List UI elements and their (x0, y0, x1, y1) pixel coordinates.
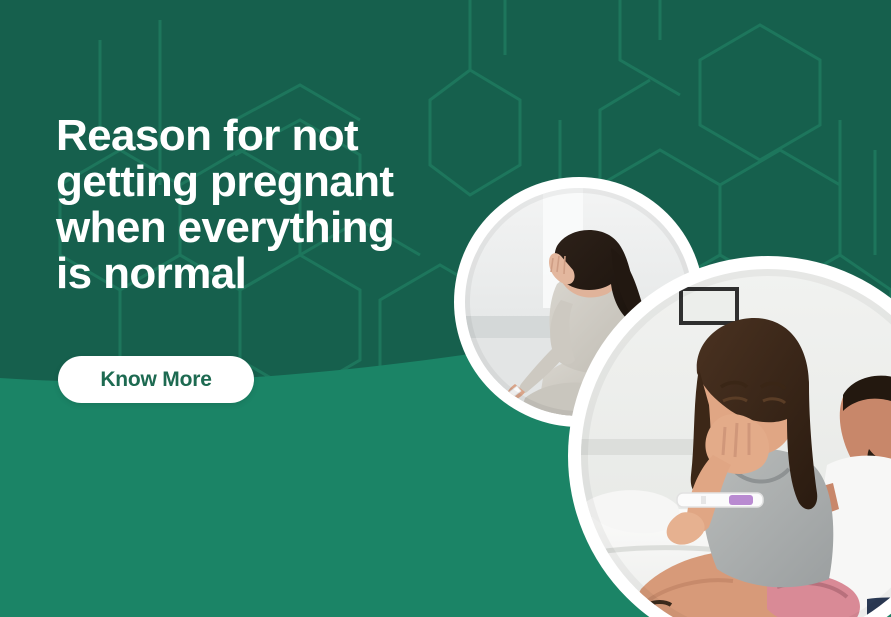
know-more-button[interactable]: Know More (58, 356, 254, 403)
photo-couple-clip (581, 269, 891, 617)
photo-couple-illustration (581, 269, 891, 617)
promotional-banner: Reason for not getting pregnant when eve… (0, 0, 891, 617)
page-title: Reason for not getting pregnant when eve… (56, 113, 476, 297)
